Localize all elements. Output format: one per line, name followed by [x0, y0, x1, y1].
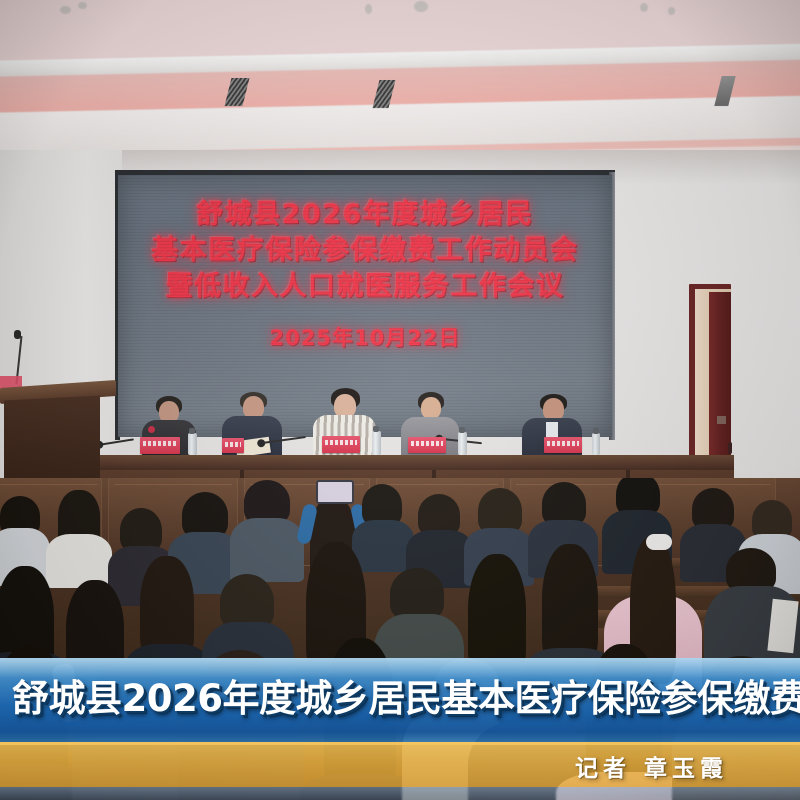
reporter-credit: 记者 章玉霞 — [575, 744, 728, 788]
name-placard — [408, 437, 446, 453]
ceiling-fixture-icon — [78, 2, 87, 9]
ceiling — [0, 0, 800, 170]
led-title-line-3: 暨低收入人口就医服务工作会议 — [166, 269, 565, 305]
led-title-line-1: 舒城县2026年度城乡居民 — [196, 197, 534, 233]
bottom-strip — [0, 787, 800, 800]
water-bottle-icon — [592, 433, 600, 455]
lapel-pin-icon — [148, 426, 155, 433]
broadcast-frame: 舒城县2026年度城乡居民 基本医疗保险参保缴费工作动员会 暨低收入人口就医服务… — [0, 0, 800, 800]
led-title-line-2: 基本医疗保险参保缴费工作动员会 — [151, 233, 579, 269]
lower-third-overlay: 舒城县2026年度城乡居民基本医疗保险参保缴费工作动员会召开 记者 章玉霞 — [0, 658, 800, 800]
ceiling-fixture-icon — [60, 6, 71, 14]
water-bottle-icon — [188, 433, 197, 455]
hair-clip-icon — [646, 534, 672, 550]
table-top-surface — [66, 455, 734, 471]
ceiling-fixture-icon — [668, 7, 675, 15]
door-handle-icon[interactable] — [728, 442, 732, 454]
door-sign — [717, 416, 726, 424]
documents — [767, 599, 798, 653]
ceiling-fixture-icon — [640, 3, 648, 12]
water-bottle-icon — [458, 432, 467, 455]
led-date: 2025年10月22日 — [270, 322, 461, 352]
name-placard — [322, 436, 360, 453]
water-bottle-icon — [372, 431, 381, 455]
smartphone-icon — [316, 480, 354, 504]
head — [421, 397, 441, 419]
lectern-microphone-head-icon — [14, 330, 21, 339]
lower-third-headline: 舒城县2026年度城乡居民基本医疗保险参保缴费工作动员会召开 — [12, 664, 792, 726]
ceiling-fixture-icon — [365, 4, 372, 14]
ceiling-fixture-icon — [414, 1, 428, 12]
name-placard — [222, 438, 244, 453]
name-placard — [544, 437, 582, 453]
audience-member — [0, 496, 48, 576]
name-placard — [140, 437, 180, 454]
